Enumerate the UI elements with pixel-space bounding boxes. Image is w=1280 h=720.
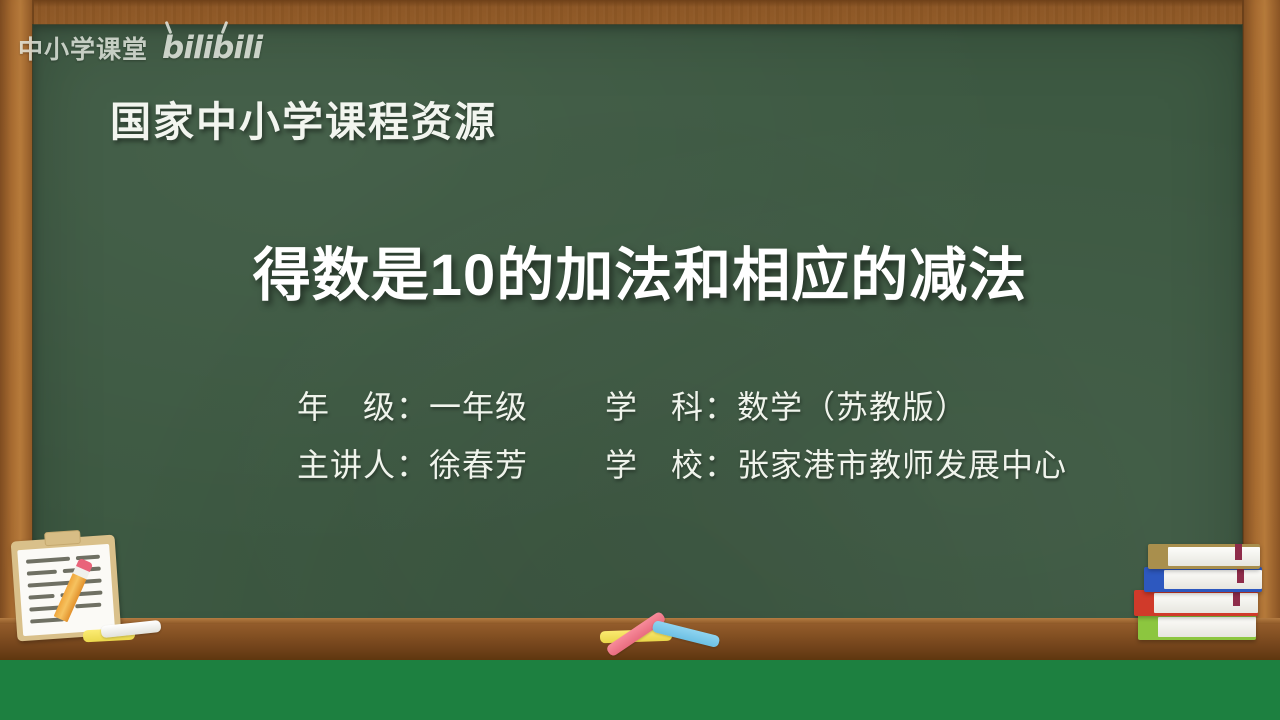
clipboard-clip-icon <box>44 530 81 546</box>
bilibili-logo-icon: bilibili <box>162 30 262 66</box>
meta-row-school: 学 校：张家港市教师发展中心 <box>605 440 1155 486</box>
meta-column-right: 学 科：数学（苏教版） 学 校：张家港市教师发展中心 <box>595 382 1155 486</box>
base-background <box>0 660 1280 720</box>
blue-book-icon <box>1144 567 1262 592</box>
red-book-icon <box>1134 590 1258 616</box>
book-stack-icon <box>1134 532 1264 640</box>
meta-row-grade: 年 级：一年级 <box>297 382 595 428</box>
watermark: 中小学课堂 bilibili <box>18 30 262 66</box>
org-title: 国家中小学课程资源 <box>110 88 497 148</box>
meta-row-subject: 学 科：数学（苏教版） <box>605 382 1155 428</box>
slide-stage: 中小学课堂 bilibili 国家中小学课程资源 得数是10的加法和相应的减法 … <box>0 0 1280 720</box>
lesson-meta: 年 级：一年级 主讲人：徐春芳 学 科：数学（苏教版） 学 校：张家港市教师发展… <box>0 382 1280 486</box>
meta-row-presenter: 主讲人：徐春芳 <box>297 440 595 486</box>
tan-book-icon <box>1148 544 1260 569</box>
frame-top-shadow <box>0 0 1280 7</box>
watermark-channel-text: 中小学课堂 <box>18 30 148 66</box>
green-book-icon <box>1138 614 1256 640</box>
bilibili-logo-text: bilibili <box>162 30 262 66</box>
lesson-title: 得数是10的加法和相应的减法 <box>0 228 1280 312</box>
meta-column-left: 年 级：一年级 主讲人：徐春芳 <box>125 382 595 486</box>
